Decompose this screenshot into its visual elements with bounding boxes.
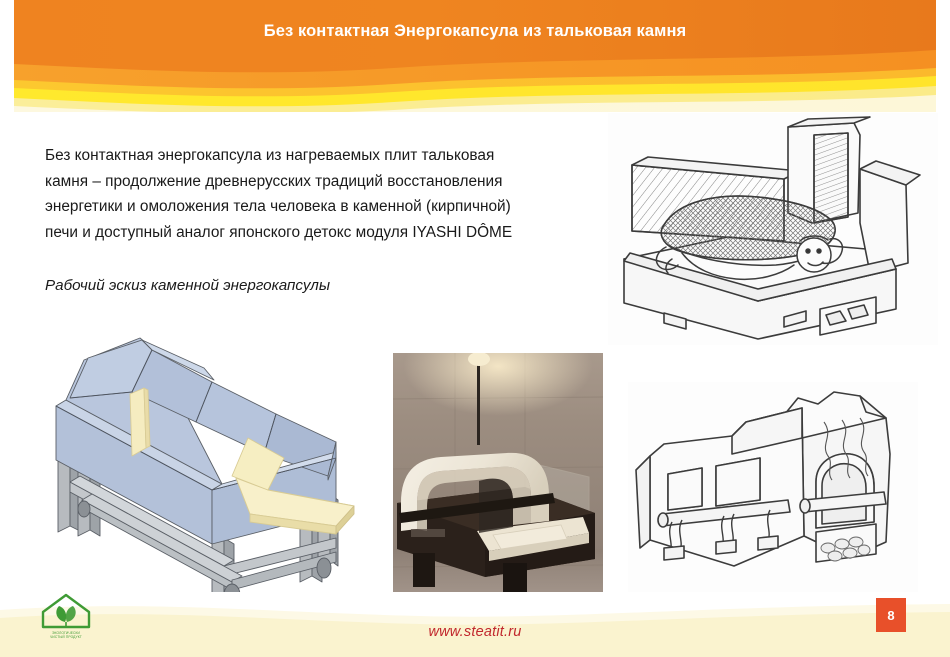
- intro-line-4: печи и доступный аналог японского детокс…: [45, 220, 610, 246]
- eco-house-leaf-icon: [38, 592, 94, 630]
- intro-line-3: энергетики и омоложения тела человека в …: [45, 194, 610, 220]
- site-url-footer[interactable]: www.steatit.ru: [0, 624, 950, 640]
- page-title: Без контактная Энергокапсула из талькова…: [14, 22, 936, 41]
- stove-sketch-drawing: [628, 382, 918, 602]
- header-wave-banner: [14, 0, 936, 112]
- logo-tagline-line-2: ЧИСТЫЙ ПРОДУКТ: [38, 635, 94, 639]
- intro-paragraph: Без контактная энергокапсула из нагревае…: [45, 143, 610, 245]
- oven-sketch-drawing: [608, 113, 938, 345]
- detox-capsule-photo: [393, 353, 603, 595]
- image-iyashi-dome-detox-capsule-photo: [393, 353, 603, 595]
- image-person-in-stone-oven-sketch: [608, 113, 938, 345]
- logo-tagline: ЭКОЛОГИЧЕСКИ ЧИСТЫЙ ПРОДУКТ: [38, 631, 94, 639]
- intro-line-2: камня – продолжение древнерусских традиц…: [45, 169, 610, 195]
- image-russian-stove-sketch: [628, 382, 918, 602]
- sketch-caption: Рабочий эскиз каменной энергокапсулы: [45, 277, 330, 294]
- presentation-slide: Без контактная Энергокапсула из талькова…: [0, 0, 950, 657]
- page-number-badge: 8: [876, 598, 906, 632]
- intro-line-1: Без контактная энергокапсула из нагревае…: [45, 143, 610, 169]
- header-wave-graphic: [14, 0, 936, 112]
- cad-isometric-drawing: [36, 330, 366, 615]
- brand-logo: ЭКОЛОГИЧЕСКИ ЧИСТЫЙ ПРОДУКТ: [38, 592, 94, 642]
- image-isometric-cad-energy-capsule: [36, 330, 366, 615]
